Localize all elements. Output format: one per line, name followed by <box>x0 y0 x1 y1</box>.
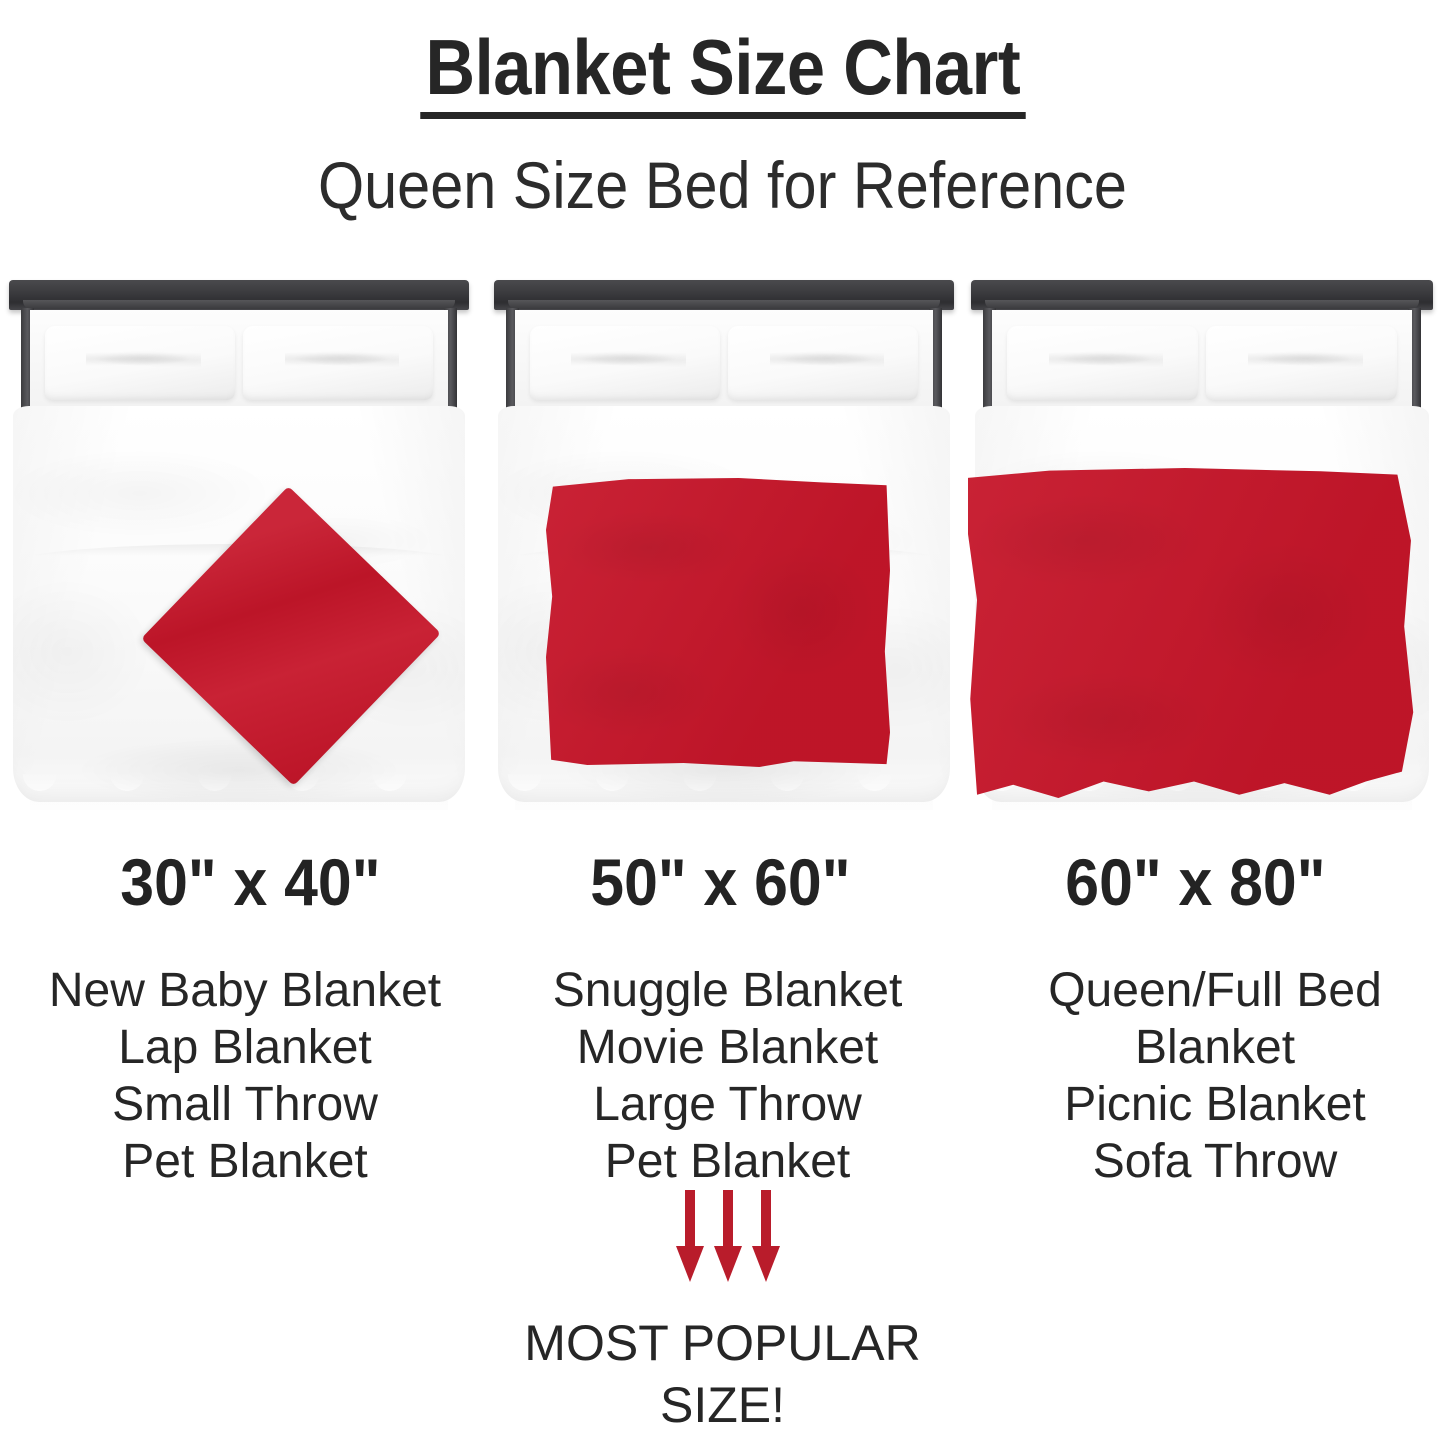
list-item: Small Throw <box>10 1076 480 1133</box>
pillow-area <box>515 310 933 414</box>
red-blanket-medium <box>546 478 890 767</box>
list-item: Snuggle Blanket <box>495 962 960 1019</box>
size-label-large-text: 60" x 80" <box>1065 843 1325 921</box>
pillow-area <box>992 310 1412 414</box>
arrow-down-icon <box>676 1190 704 1282</box>
page-title: Blanket Size Chart <box>0 28 1445 119</box>
arrow-down-icon <box>714 1190 742 1282</box>
headboard-icon <box>971 280 1433 310</box>
duvet-hem <box>0 774 482 808</box>
size-label-small: 30" x 40" <box>30 843 470 921</box>
size-label-medium-text: 50" x 60" <box>590 843 850 921</box>
pillow-left <box>45 326 235 400</box>
list-item: Movie Blanket <box>495 1019 960 1076</box>
list-item: New Baby Blanket <box>10 962 480 1019</box>
list-item: Picnic Blanket <box>985 1076 1445 1133</box>
callout-line: MOST POPULAR <box>485 1312 960 1374</box>
list-item: Large Throw <box>495 1076 960 1133</box>
callout-line: SIZE! <box>485 1374 960 1436</box>
page-title-text: Blanket Size Chart <box>420 28 1025 119</box>
list-item: Pet Blanket <box>10 1133 480 1190</box>
size-label-large: 60" x 80" <box>975 843 1415 921</box>
size-label-medium: 50" x 60" <box>500 843 940 921</box>
pillow-left <box>1007 326 1198 400</box>
size-label-row: 30" x 40" 50" x 60" 60" x 80" <box>0 843 1445 923</box>
size-label-small-text: 30" x 40" <box>120 843 380 921</box>
most-popular-arrows <box>676 1190 780 1282</box>
headboard-icon <box>494 280 954 310</box>
list-item: Lap Blanket <box>10 1019 480 1076</box>
use-list-small: New Baby Blanket Lap Blanket Small Throw… <box>10 962 480 1190</box>
page-subtitle: Queen Size Bed for Reference <box>0 152 1445 218</box>
use-list-large: Queen/Full Bed Blanket Picnic Blanket So… <box>985 962 1445 1190</box>
pillow-left <box>530 326 720 400</box>
arrow-down-icon <box>752 1190 780 1282</box>
duvet-hem <box>481 774 967 808</box>
pillow-area <box>30 310 448 414</box>
pillow-right <box>728 326 918 400</box>
use-list-medium: Snuggle Blanket Movie Blanket Large Thro… <box>495 962 960 1190</box>
list-item: Pet Blanket <box>495 1133 960 1190</box>
headboard-icon <box>9 280 469 310</box>
pillow-right <box>243 326 433 400</box>
pillow-right <box>1206 326 1397 400</box>
red-blanket-large <box>968 468 1420 798</box>
most-popular-callout: MOST POPULAR SIZE! <box>485 1312 960 1436</box>
page-subtitle-text: Queen Size Bed for Reference <box>318 152 1127 218</box>
list-item: Sofa Throw <box>985 1133 1445 1190</box>
list-item: Queen/Full Bed <box>985 962 1445 1019</box>
list-item: Blanket <box>985 1019 1445 1076</box>
